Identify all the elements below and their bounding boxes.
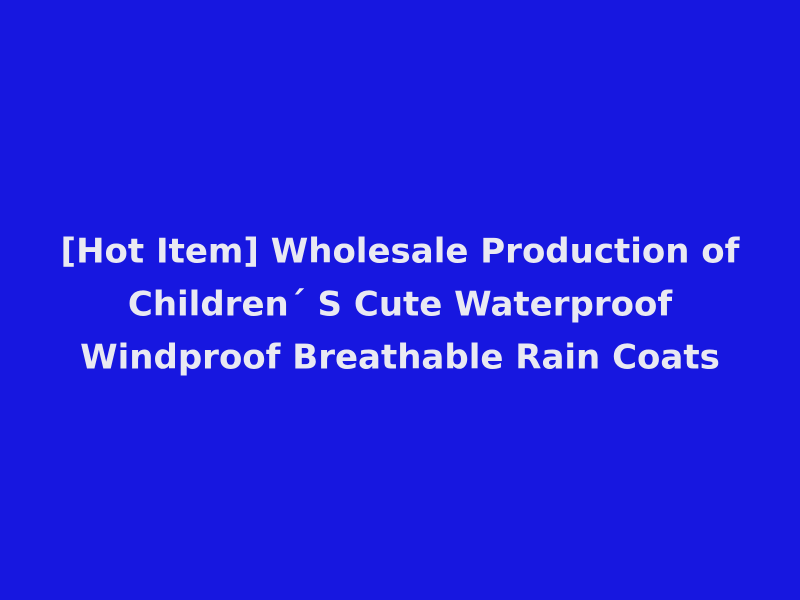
title-line-1: [Hot Item] Wholesale Production of [20, 226, 780, 279]
title-line-2: Children´ S Cute Waterproof [20, 279, 780, 332]
product-title-card: [Hot Item] Wholesale Production of Child… [0, 0, 800, 600]
page-title: [Hot Item] Wholesale Production of Child… [0, 226, 800, 385]
title-line-3: Windproof Breathable Rain Coats [20, 332, 780, 385]
